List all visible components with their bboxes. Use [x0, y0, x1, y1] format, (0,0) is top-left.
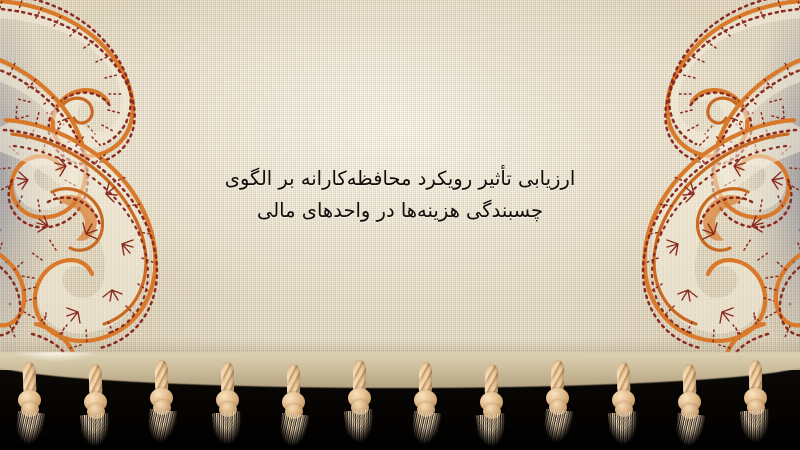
tassel: [668, 364, 712, 450]
tassel-skirt: [740, 409, 772, 447]
tassel: [536, 360, 580, 448]
tassel: [602, 362, 646, 450]
tassel: [404, 362, 448, 450]
tassel-skirt: [212, 411, 244, 449]
tassel-skirt: [80, 413, 112, 450]
tassel: [470, 364, 514, 450]
tassel: [74, 364, 118, 450]
tassel: [338, 360, 382, 448]
tassel: [8, 362, 52, 450]
tassel-skirt: [674, 413, 706, 450]
paisley-ornament-left: .vine { fill:none; stroke:#d9792a; strok…: [0, 0, 296, 360]
tassel-skirt: [608, 411, 640, 449]
tassel: [140, 360, 184, 448]
title-slide: .vine { fill:none; stroke:#d9792a; strok…: [0, 0, 800, 450]
tassel-skirt: [476, 413, 508, 450]
tassel-skirt: [146, 409, 178, 448]
tassel: [206, 362, 250, 450]
tassel-fringe: [0, 362, 800, 450]
tassel-skirt: [542, 409, 574, 448]
tassel-skirt: [278, 413, 310, 450]
tassel-skirt: [14, 411, 46, 450]
paisley-ornament-right: .vineR { fill:none; stroke:#d9792a; stro…: [504, 0, 800, 360]
tassel-skirt: [344, 409, 376, 447]
tassel-skirt: [410, 411, 442, 450]
tassel: [734, 360, 778, 448]
tassel: [272, 364, 316, 450]
